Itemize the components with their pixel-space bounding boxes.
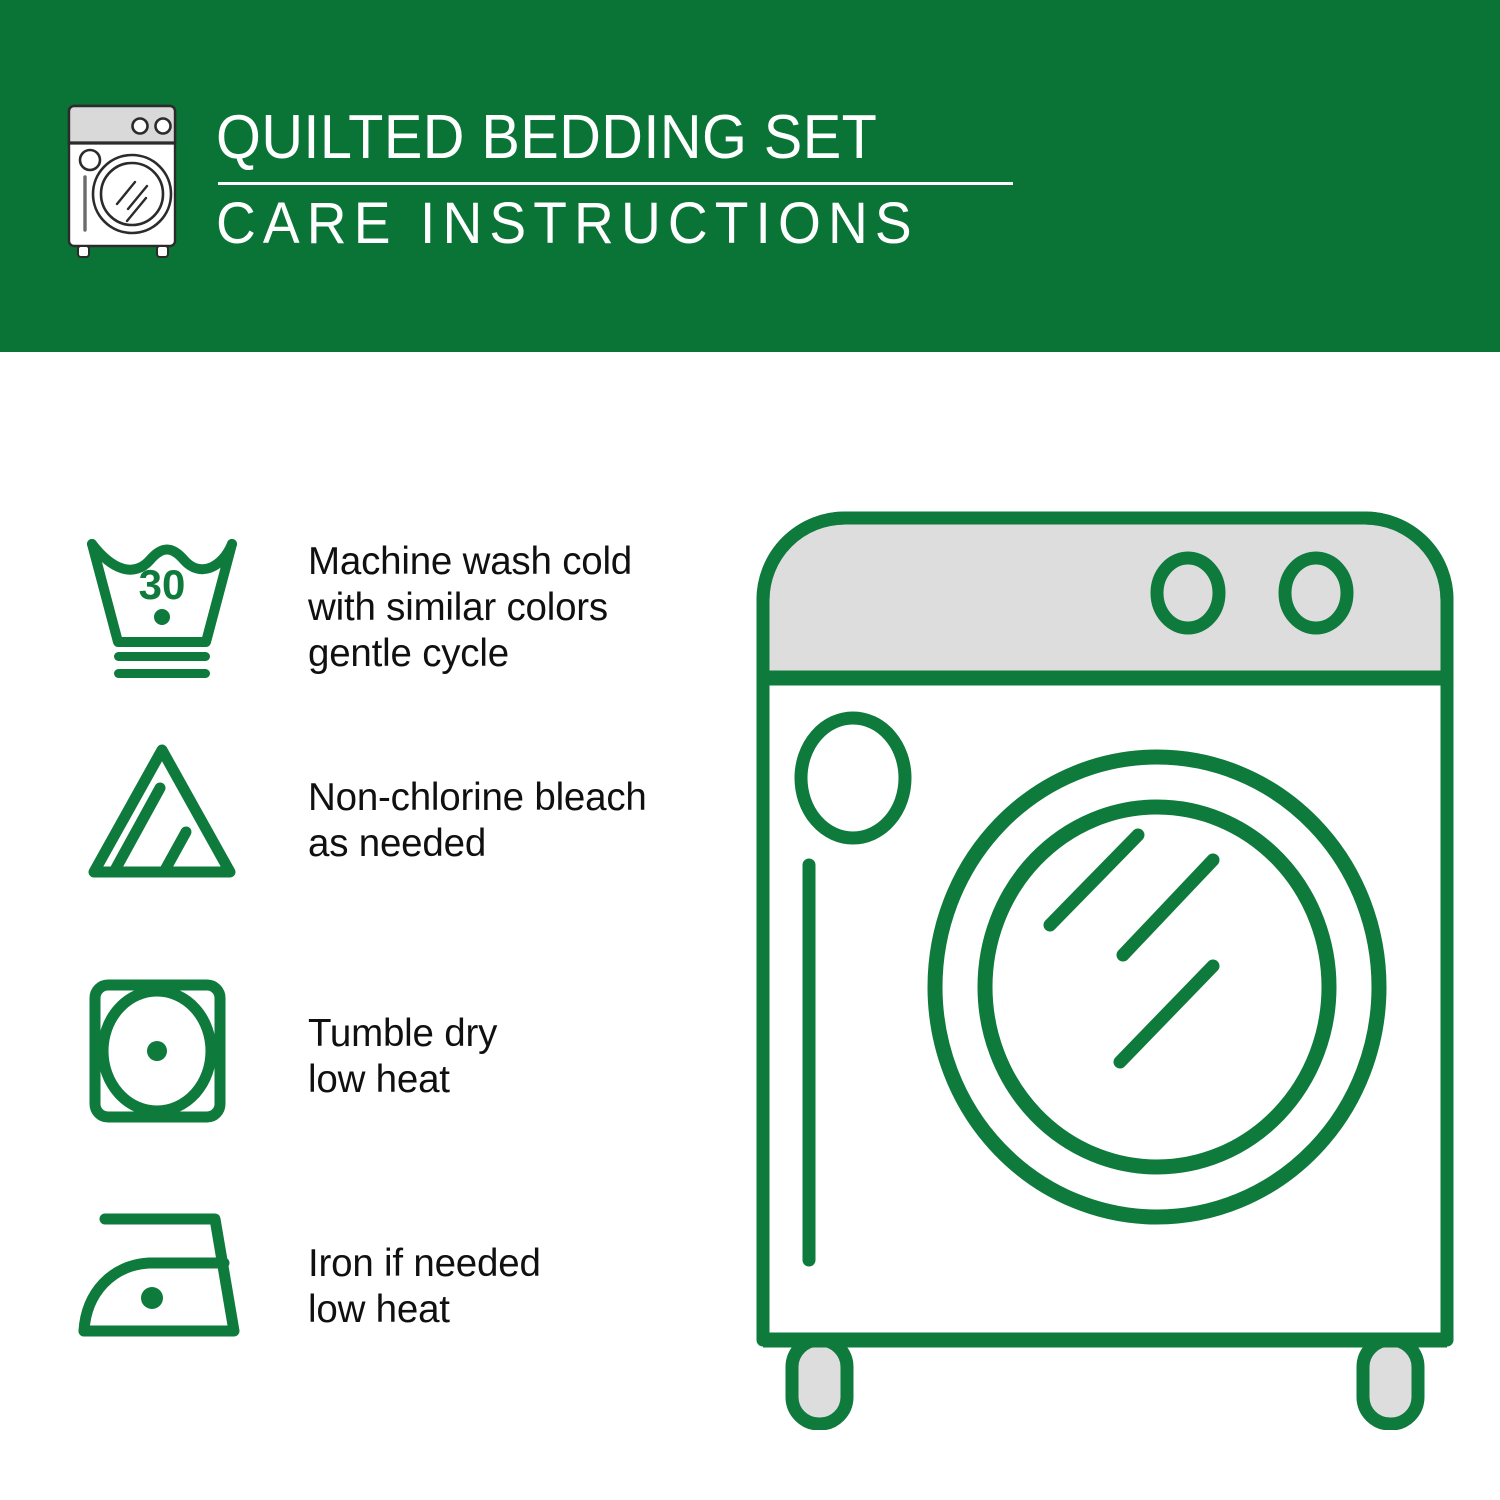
page-subtitle: CARE INSTRUCTIONS [216, 193, 973, 255]
care-row-iron: Iron if needed low heat [72, 1197, 541, 1367]
title-divider [218, 182, 1013, 185]
care-text-tumble-dry: Tumble dry low heat [252, 967, 497, 1103]
knob-left[interactable] [1157, 558, 1219, 628]
dry-heat-dot-icon [147, 1041, 167, 1061]
iron-low-heat-icon [72, 1197, 252, 1367]
wash-temperature-label: 30 [139, 561, 186, 608]
detergent-dial[interactable] [801, 718, 905, 838]
front-load-washing-machine-illustration [745, 500, 1465, 1430]
wash-dot-icon [154, 609, 170, 625]
door-outer-ring [935, 757, 1379, 1217]
care-text-bleach: Non-chlorine bleach as needed [252, 732, 647, 867]
non-chlorine-bleach-triangle-icon [72, 732, 252, 902]
door-diagonal-lines [1050, 835, 1213, 1062]
care-row-tumble-dry: Tumble dry low heat [72, 967, 497, 1137]
care-text-iron: Iron if needed low heat [252, 1197, 541, 1333]
care-row-machine-wash: 30 Machine wash cold with similar colors… [72, 522, 632, 692]
page-title: QUILTED BEDDING SET [216, 104, 957, 172]
tumble-dry-low-icon [72, 967, 252, 1137]
knob-right[interactable] [1285, 558, 1347, 628]
header-banner: QUILTED BEDDING SET CARE INSTRUCTIONS [0, 0, 1500, 352]
care-instruction-list: 30 Machine wash cold with similar colors… [0, 352, 720, 1500]
iron-heat-dot-icon [141, 1287, 163, 1309]
leg-right [1363, 1340, 1418, 1424]
header-content: QUILTED BEDDING SET CARE INSTRUCTIONS [62, 98, 1013, 258]
title-block: QUILTED BEDDING SET CARE INSTRUCTIONS [216, 98, 1013, 255]
machine-wash-30-icon: 30 [72, 522, 252, 692]
care-text-machine-wash: Machine wash cold with similar colors ge… [252, 522, 632, 677]
washing-machine-icon [62, 98, 194, 258]
leg-left [792, 1340, 847, 1424]
door-inner-ring [985, 807, 1329, 1167]
care-row-bleach: Non-chlorine bleach as needed [72, 732, 647, 902]
